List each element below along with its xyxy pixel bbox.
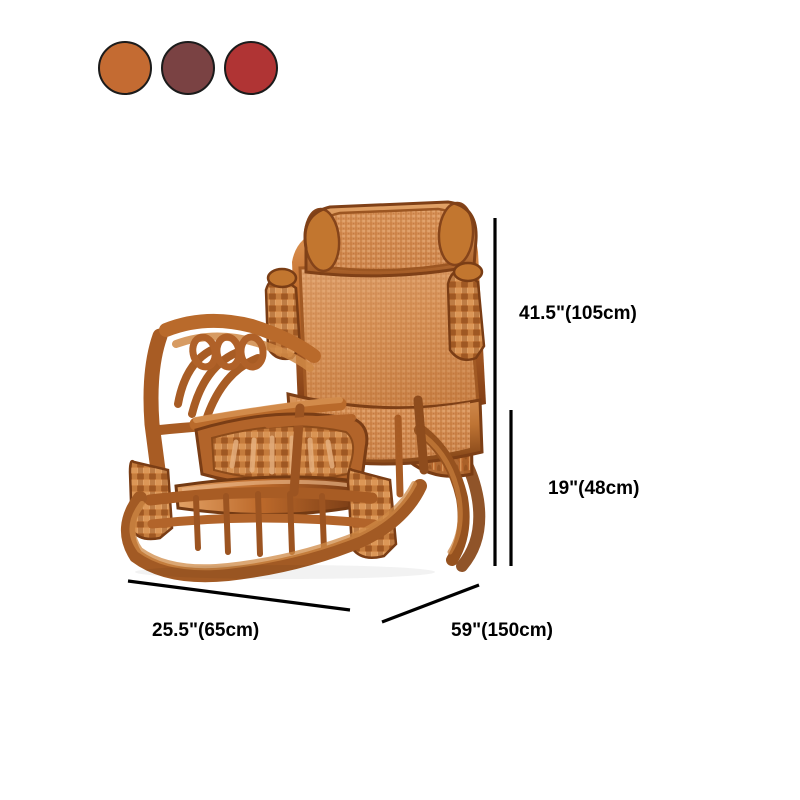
height-dimension-label: 41.5"(105cm) <box>519 303 637 325</box>
product-photo <box>0 0 800 800</box>
width-dimension-label: 25.5"(65cm) <box>152 620 259 642</box>
color-swatch-orange-brown[interactable] <box>98 41 152 95</box>
color-swatch-row[interactable] <box>98 41 278 95</box>
seat-height-dimension-label: 19"(48cm) <box>548 478 639 500</box>
color-swatch-plum-brown[interactable] <box>161 41 215 95</box>
depth-dimension-label: 59"(150cm) <box>451 620 553 642</box>
color-swatch-brick-red[interactable] <box>224 41 278 95</box>
